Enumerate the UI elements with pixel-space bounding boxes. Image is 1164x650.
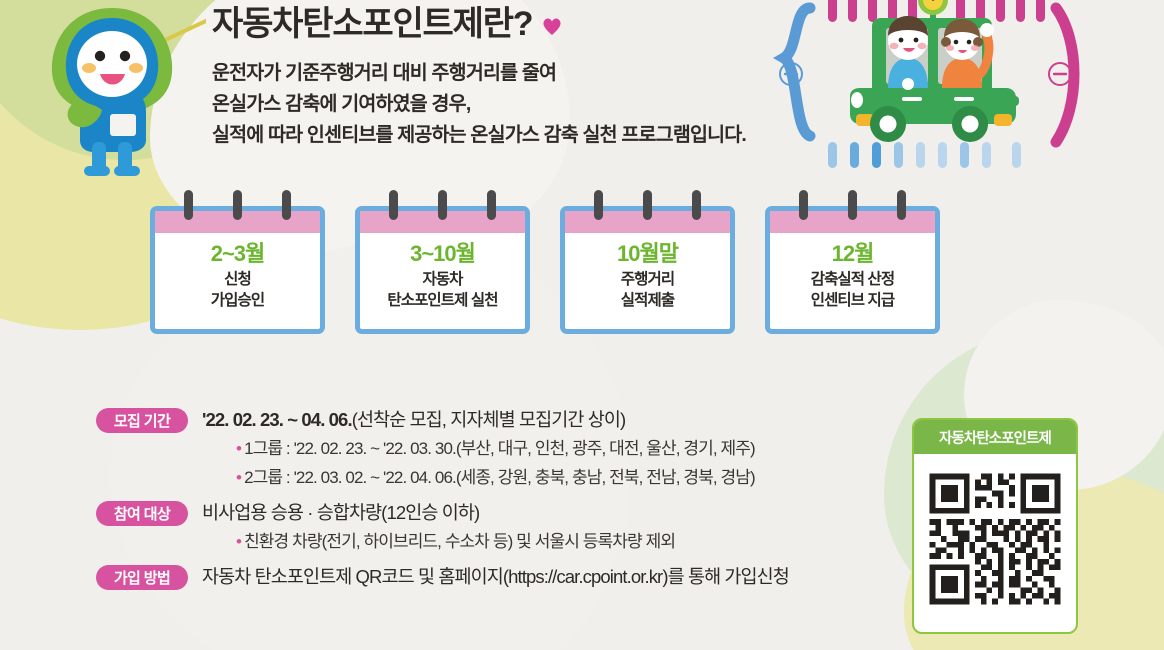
calendar-header-strip [155,211,320,233]
info-row-recruitment-period: 모집 기간 '22. 02. 23. ~ 04. 06.(선착순 모집, 지자체… [96,406,896,492]
green-car-icon [850,18,1019,142]
card-month-label: 2~3월 [155,240,320,267]
timeline-card[interactable]: 12월 감축실적 산정 인센티브 지급 [765,206,940,346]
timeline-cards: 2~3월 신청 가입승인 3~10월 자동차 탄소포인트제 실천 [150,206,1030,346]
bottom-tick-marks [828,142,1021,168]
lede-paragraph: 운전자가 기준주행거리 대비 주행거리를 줄여 온실가스 감축에 기여하였을 경… [212,58,842,151]
card-desc-line: 탄소포인트제 실천 [360,290,525,311]
info-sub-line: •1그룹 : '22. 02. 23. ~ '22. 03. 30.(부산, 대… [202,434,755,463]
eco-mascot-character-icon [26,2,206,177]
info-sub-line: •친환경 차량(전기, 하이브리드, 수소차 등) 및 서울시 등록차량 제외 [202,527,675,556]
calendar-header-strip [770,211,935,233]
card-desc-line: 인센티브 지급 [770,290,935,311]
info-main-line: 비사업용 승용 · 승합차량(12인승 이하) [202,499,675,527]
qr-code-card[interactable]: 자동차탄소포인트제 [912,418,1078,634]
label-pill: 모집 기간 [96,408,188,433]
lede-line-2: 온실가스 감축에 기여하였을 경우, [212,89,842,120]
card-month-label: 10월말 [565,240,730,267]
period-value: '22. 02. 23. ~ 04. 06. [202,409,352,430]
card-desc-line: 가입승인 [155,290,320,311]
card-desc-line: 실적제출 [565,290,730,311]
card-desc-line: 신청 [155,269,320,290]
calendar-header-strip [360,211,525,233]
card-desc-line: 감축실적 산정 [770,269,935,290]
bullet-icon: • [236,532,241,551]
calendar-header-strip [565,211,730,233]
info-row-how-to-join: 가입 방법 자동차 탄소포인트제 QR코드 및 홈페이지(https://car… [96,563,896,591]
bullet-icon: • [236,468,241,487]
infographic-canvas: 자동차탄소포인트제란? 운전자가 기준주행거리 대비 주행거리를 줄여 온실가스… [0,0,1164,650]
card-desc-line: 주행거리 [565,269,730,290]
driver-passenger-icon [888,16,928,90]
period-note: (선착순 모집, 지자체별 모집기간 상이) [352,409,626,430]
info-sub-text: 2그룹 : '22. 03. 02. ~ '22. 04. 06.(세종, 강원… [244,468,755,487]
right-paren-icon [1049,8,1074,142]
car-scene-illustration [760,0,1164,172]
timeline-card[interactable]: 10월말 주행거리 실적제출 [560,206,735,346]
card-month-label: 3~10월 [360,240,525,267]
page-title: 자동차탄소포인트제란? [212,1,532,47]
title-row: 자동차탄소포인트제란? [212,0,842,48]
heart-icon [542,17,562,36]
timeline-card[interactable]: 2~3월 신청 가입승인 [150,206,325,346]
info-sub-line: •2그룹 : '22. 03. 02. ~ '22. 04. 06.(세종, 강… [202,463,755,492]
lede-line-3: 실적에 따라 인센티브를 제공하는 온실가스 감축 실천 프로그램입니다. [212,120,842,151]
info-sub-text: 친환경 차량(전기, 하이브리드, 수소차 등) 및 서울시 등록차량 제외 [244,532,675,551]
qr-code-icon[interactable] [914,454,1076,625]
info-main-line: '22. 02. 23. ~ 04. 06.(선착순 모집, 지자체별 모집기간… [202,406,755,434]
header-block: 자동차탄소포인트제란? 운전자가 기준주행거리 대비 주행거리를 줄여 온실가스… [212,0,842,151]
info-row-eligible-vehicles: 참여 대상 비사업용 승용 · 승합차량(12인승 이하) •친환경 차량(전기… [96,499,896,556]
info-section: 모집 기간 '22. 02. 23. ~ 04. 06.(선착순 모집, 지자체… [96,406,896,598]
card-month-label: 12월 [770,240,935,267]
card-desc-line: 자동차 [360,269,525,290]
qr-card-title: 자동차탄소포인트제 [914,420,1076,454]
label-pill: 가입 방법 [96,565,188,590]
lede-line-1: 운전자가 기준주행거리 대비 주행거리를 줄여 [212,58,842,89]
bullet-icon: • [236,439,241,458]
info-main-line[interactable]: 자동차 탄소포인트제 QR코드 및 홈페이지(https://car.cpoin… [202,563,789,591]
info-sub-text: 1그룹 : '22. 02. 23. ~ '22. 03. 30.(부산, 대구… [244,439,755,458]
left-brace-icon [780,8,810,136]
label-pill: 참여 대상 [96,501,188,526]
timeline-card[interactable]: 3~10월 자동차 탄소포인트제 실천 [355,206,530,346]
